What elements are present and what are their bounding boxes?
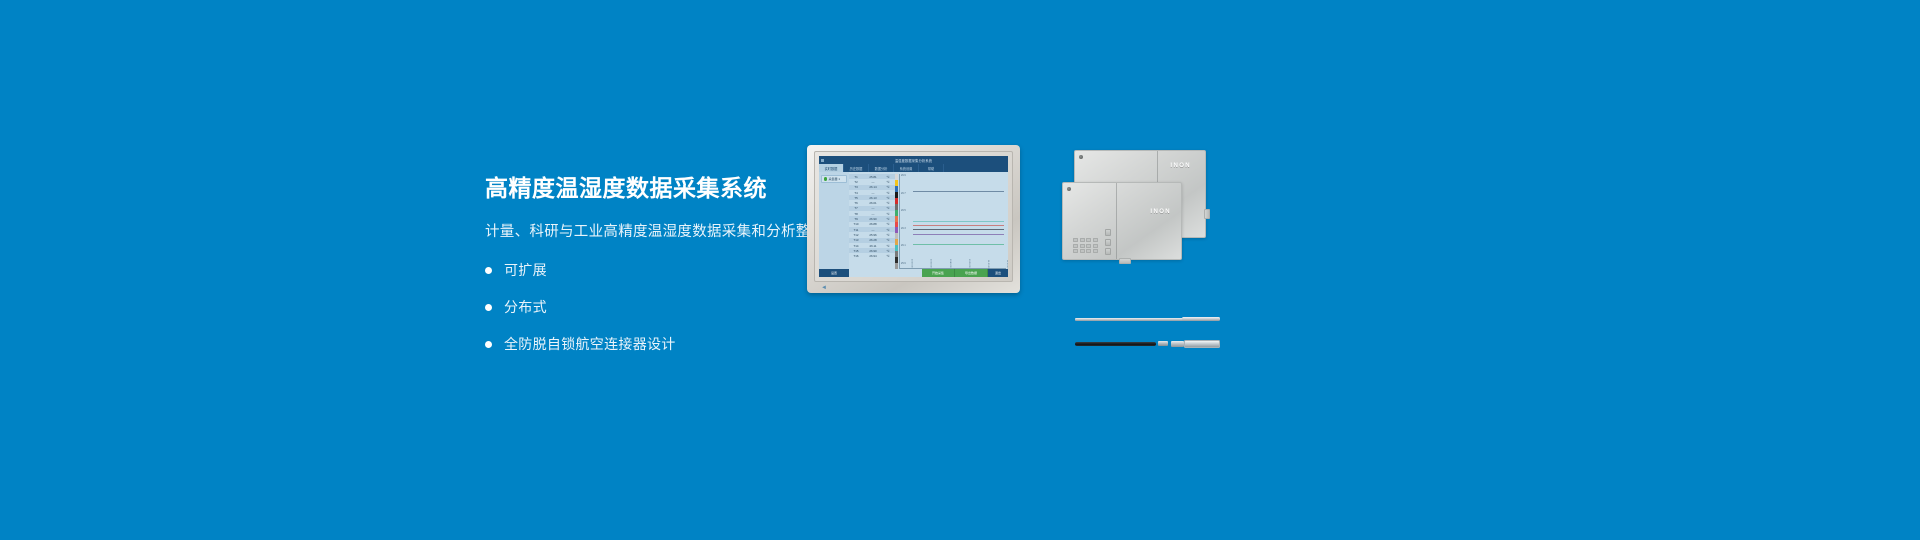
aviation-connectors	[1105, 229, 1111, 255]
x-tick-label: 10:50:00	[968, 259, 970, 268]
bullet-icon	[485, 267, 492, 274]
cell-unit: ℃	[883, 175, 893, 179]
chart-line	[913, 225, 1004, 226]
bullet-icon	[485, 341, 492, 348]
software-sidebar: 采集器 1	[819, 172, 849, 269]
probe-rod	[1075, 318, 1185, 321]
y-tick-label: 26.7	[901, 192, 906, 195]
y-tick-label: 26.9	[901, 174, 906, 177]
cell-channel: T13	[849, 238, 863, 242]
tab-system-settings: 系统设置	[894, 164, 919, 172]
cell-unit: ℃	[883, 180, 893, 184]
probe-collar	[1171, 341, 1184, 347]
cell-value: ---	[863, 191, 883, 195]
cell-channel: T14	[849, 244, 863, 248]
cell-channel: T2	[849, 180, 863, 184]
cell-unit: ℃	[883, 238, 893, 242]
table-row: T1626.94℃	[849, 253, 895, 258]
cell-unit: ℃	[883, 254, 893, 258]
cell-value: 26.01	[863, 201, 883, 205]
cell-channel: T15	[849, 249, 863, 253]
cell-unit: ℃	[883, 201, 893, 205]
connector-ports	[1073, 238, 1098, 253]
bullet-icon	[485, 304, 492, 311]
cell-channel: T6	[849, 201, 863, 205]
cell-value: ---	[863, 228, 883, 232]
start-acquisition-button: 开始采集	[922, 269, 955, 277]
cell-channel: T10	[849, 222, 863, 226]
monitor-inner-bezel: 温湿度数据采集分析系统 实时数据 历史数据 数据分析 系统设置 帮助 采集器 1	[814, 151, 1013, 282]
cell-channel: T1	[849, 175, 863, 179]
chart-line	[913, 229, 1004, 230]
feature-label: 可扩展	[504, 260, 547, 280]
probe-nut	[1158, 341, 1168, 346]
tab-history-data: 历史数据	[844, 164, 869, 172]
cell-channel: T9	[849, 217, 863, 221]
product-device-images: INON INON	[1062, 140, 1217, 300]
chart-line	[913, 221, 1004, 222]
cell-value: 26.11	[863, 244, 883, 248]
cell-value: 25.96	[863, 233, 883, 237]
x-tick-label: 10:20:00	[911, 259, 913, 268]
software-title-bar: 温湿度数据采集分析系统	[819, 156, 1008, 164]
brand-logo-text: INON	[1170, 163, 1191, 169]
cell-channel: T3	[849, 185, 863, 189]
cell-value: 25.81	[863, 175, 883, 179]
chart-x-axis: 10:20:0010:30:0010:40:0010:50:0011:00:00…	[911, 261, 1006, 268]
cell-value: 26.28	[863, 238, 883, 242]
cell-value: ---	[863, 206, 883, 210]
footer-spacer	[849, 269, 922, 277]
cell-channel: T4	[849, 191, 863, 195]
cell-value: 26.90	[863, 249, 883, 253]
screw-icon	[1079, 155, 1083, 159]
cell-unit: ℃	[883, 222, 893, 226]
product-monitor-image: 温湿度数据采集分析系统 实时数据 历史数据 数据分析 系统设置 帮助 采集器 1	[807, 145, 1020, 293]
channel-table: T125.81℃T2---℃T326.14℃T4---℃T526.13℃T626…	[849, 172, 895, 269]
probe-tip	[1182, 317, 1220, 321]
sidebar-item-device: 采集器 1	[821, 175, 847, 183]
cell-unit: ℃	[883, 228, 893, 232]
probe-cable	[1075, 342, 1156, 346]
hero-banner: 高精度温湿度数据采集系统 计量、科研与工业高精度温湿度数据采集和分析整体解决方案…	[0, 0, 1920, 540]
y-tick-label: 26.5	[901, 209, 906, 212]
cell-unit: ℃	[883, 233, 893, 237]
cell-channel: T5	[849, 196, 863, 200]
cell-value: 26.14	[863, 185, 883, 189]
list-item: 分布式	[485, 297, 955, 317]
software-footer: 设置 开始采集 导出数据 退出	[819, 269, 1008, 277]
cell-unit: ℃	[883, 249, 893, 253]
cell-unit: ℃	[883, 217, 893, 221]
cell-value: 26.88	[863, 222, 883, 226]
y-tick-label: 26.1	[901, 244, 906, 247]
device-front-unit: INON	[1062, 182, 1182, 260]
cell-channel: T11	[849, 228, 863, 232]
tab-realtime-data: 实时数据	[819, 164, 844, 172]
brand-logo-text: INON	[1150, 209, 1171, 215]
y-tick-label: 26.3	[901, 227, 906, 230]
feature-label: 分布式	[504, 297, 547, 317]
mounting-tab	[1204, 209, 1210, 219]
trend-chart: 26.926.726.526.326.125.9 10:20:0010:30:0…	[899, 174, 1006, 269]
x-tick-label: 11:00:00	[987, 260, 989, 268]
series-color-legend	[895, 174, 898, 269]
cell-value: ---	[863, 212, 883, 216]
cell-unit: ℃	[883, 196, 893, 200]
cell-value: 26.90	[863, 217, 883, 221]
tab-data-analysis: 数据分析	[869, 164, 894, 172]
x-tick-label: 11:10:00	[1006, 260, 1008, 268]
cell-channel: T7	[849, 206, 863, 210]
tab-help: 帮助	[919, 164, 944, 172]
cell-channel: T12	[849, 233, 863, 237]
status-dot-icon	[824, 177, 828, 181]
chart-line	[913, 234, 1004, 235]
device-label: 采集器 1	[829, 177, 841, 181]
panel-seam	[1116, 183, 1117, 259]
exit-button: 退出	[988, 269, 1008, 277]
cell-value: ---	[863, 180, 883, 184]
settings-button: 设置	[819, 269, 849, 277]
export-data-button: 导出数据	[955, 269, 988, 277]
screw-icon	[1067, 187, 1071, 191]
x-tick-label: 10:40:00	[949, 259, 951, 268]
y-tick-label: 25.9	[901, 262, 906, 265]
mounting-tab	[1119, 258, 1131, 264]
software-tab-bar: 实时数据 历史数据 数据分析 系统设置 帮助	[819, 164, 1008, 172]
cell-channel: T8	[849, 212, 863, 216]
software-body: 采集器 1 T125.81℃T2---℃T326.14℃T4---℃T526.1…	[819, 172, 1008, 269]
list-item: 全防脱自锁航空连接器设计	[485, 334, 955, 354]
chart-y-axis: 26.926.726.526.326.125.9	[901, 174, 910, 262]
monitor-stand-marker: ◄	[821, 286, 827, 291]
feature-label: 全防脱自锁航空连接器设计	[504, 334, 676, 354]
cell-unit: ℃	[883, 191, 893, 195]
cell-unit: ℃	[883, 244, 893, 248]
cell-unit: ℃	[883, 206, 893, 210]
chart-line	[913, 244, 1004, 245]
software-window-title: 温湿度数据采集分析系统	[819, 158, 1008, 163]
x-tick-label: 10:30:00	[930, 259, 932, 268]
product-probe-images	[1075, 300, 1220, 360]
monitor-screen: 温湿度数据采集分析系统 实时数据 历史数据 数据分析 系统设置 帮助 采集器 1	[819, 156, 1008, 277]
cell-unit: ℃	[883, 212, 893, 216]
cell-value: 26.13	[863, 196, 883, 200]
chart-line	[913, 191, 1004, 192]
cell-unit: ℃	[883, 185, 893, 189]
cell-channel: T16	[849, 254, 863, 258]
cell-value: 26.94	[863, 254, 883, 258]
probe-barrel	[1184, 340, 1220, 348]
